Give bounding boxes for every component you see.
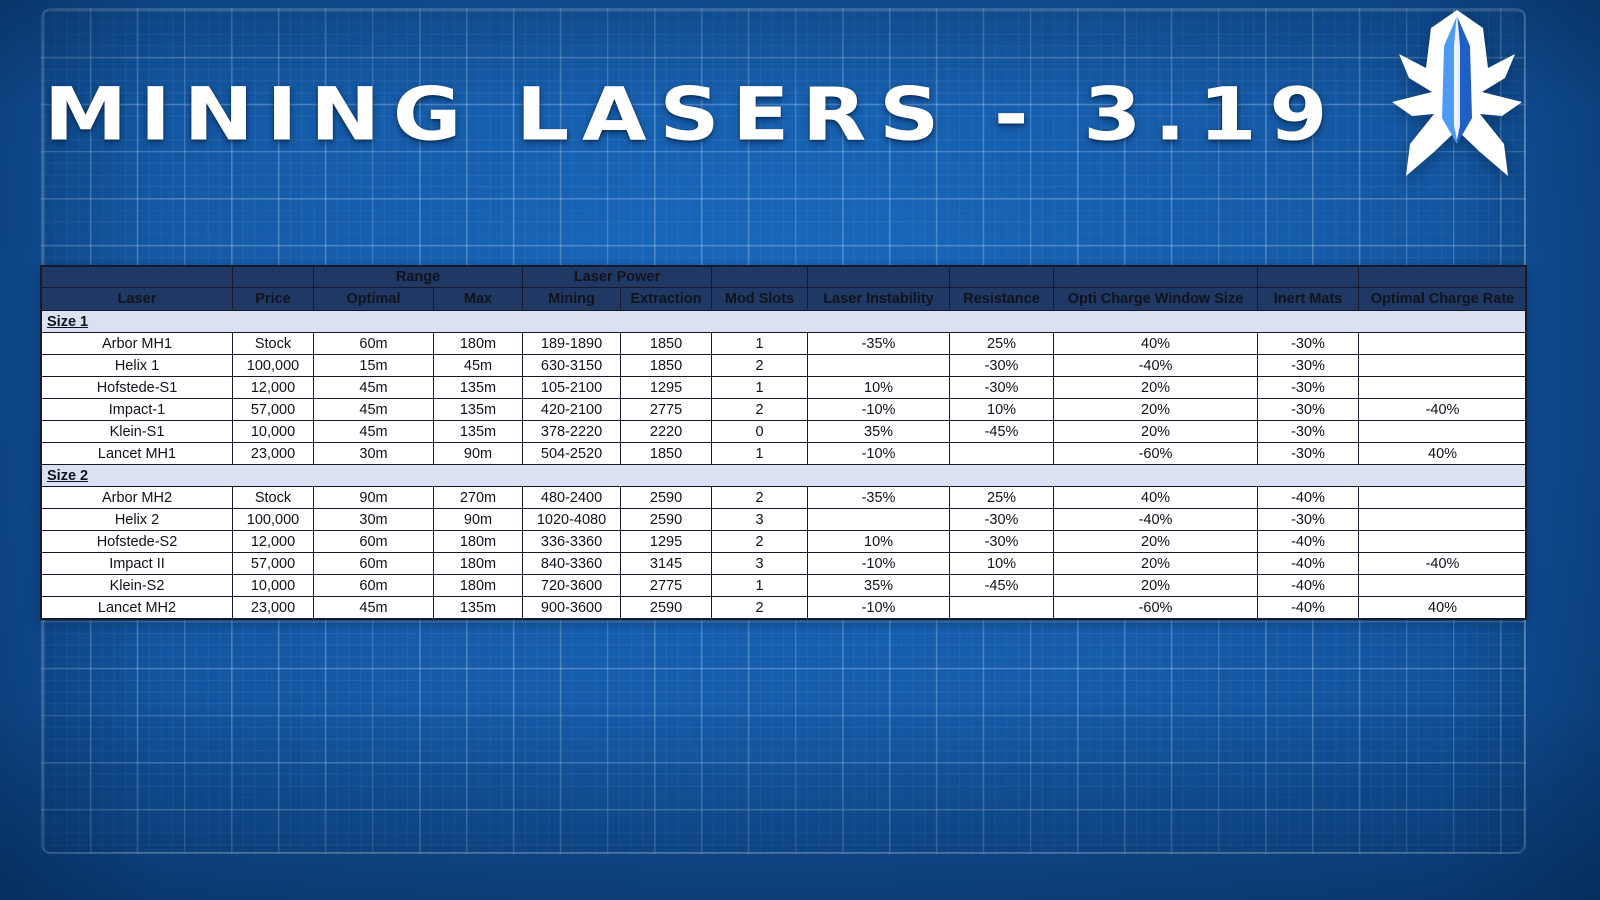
- table-cell: 20%: [1054, 399, 1258, 421]
- table-cell: 45m: [314, 421, 434, 443]
- table-cell: 2775: [621, 575, 712, 597]
- table-column-header-optimal: Optimal: [314, 288, 434, 311]
- table-cell: 180m: [434, 575, 523, 597]
- table-cell: -40%: [1359, 553, 1527, 575]
- table-cell: -30%: [950, 377, 1054, 399]
- table-cell: 60m: [314, 531, 434, 553]
- table-cell: 1295: [621, 531, 712, 553]
- table-cell: 90m: [434, 443, 523, 465]
- table-cell: 0: [712, 421, 808, 443]
- table-section-band: Size 1: [42, 311, 1527, 333]
- table-cell: 270m: [434, 487, 523, 509]
- table-section-label: Size 2: [47, 468, 88, 484]
- table-group-header-row: RangeLaser Power: [42, 267, 1527, 288]
- table-cell: -30%: [1258, 355, 1359, 377]
- table-cell: 20%: [1054, 421, 1258, 443]
- table-cell: 1: [712, 377, 808, 399]
- table-row: Hofstede-S212,00060m180m336-33601295210%…: [42, 531, 1527, 553]
- mining-lasers-table-container: RangeLaser Power LaserPriceOptimalMaxMin…: [41, 266, 1526, 619]
- table-cell: 135m: [434, 597, 523, 619]
- table-header: RangeLaser Power LaserPriceOptimalMaxMin…: [42, 267, 1527, 311]
- table-cell: -30%: [1258, 399, 1359, 421]
- table-cell: 90m: [434, 509, 523, 531]
- table-cell: 2590: [621, 597, 712, 619]
- table-cell: 420-2100: [523, 399, 621, 421]
- table-cell: 20%: [1054, 531, 1258, 553]
- table-cell: 25%: [950, 333, 1054, 355]
- table-cell: 10,000: [233, 575, 314, 597]
- table-column-header-mod-slots: Mod Slots: [712, 288, 808, 311]
- table-cell: -30%: [1258, 377, 1359, 399]
- table-cell: 1295: [621, 377, 712, 399]
- table-cell-laser-name: Klein-S2: [42, 575, 233, 597]
- table-cell: 23,000: [233, 443, 314, 465]
- table-cell: 840-3360: [523, 553, 621, 575]
- table-column-header-mining: Mining: [523, 288, 621, 311]
- table-group-header-blank-4: [712, 267, 808, 288]
- table-cell: -40%: [1258, 553, 1359, 575]
- table-cell-laser-name: Hofstede-S1: [42, 377, 233, 399]
- table-cell: -30%: [950, 509, 1054, 531]
- table-section-band-cell: Size 2: [42, 465, 1527, 487]
- table-cell: -35%: [808, 333, 950, 355]
- table-cell: [808, 355, 950, 377]
- table-cell: 40%: [1359, 443, 1527, 465]
- table-section-band: Size 2: [42, 465, 1527, 487]
- table-row: Helix 2100,00030m90m1020-408025903-30%-4…: [42, 509, 1527, 531]
- table-cell: -30%: [950, 355, 1054, 377]
- table-cell: Stock: [233, 487, 314, 509]
- mining-lasers-table: RangeLaser Power LaserPriceOptimalMaxMin…: [41, 266, 1527, 619]
- table-cell: -10%: [808, 597, 950, 619]
- table-cell: 12,000: [233, 377, 314, 399]
- table-cell: 336-3360: [523, 531, 621, 553]
- table-section-label: Size 1: [47, 314, 88, 330]
- table-cell: 40%: [1359, 597, 1527, 619]
- table-cell: [1359, 355, 1527, 377]
- table-cell: [1359, 509, 1527, 531]
- table-cell: [1359, 531, 1527, 553]
- table-group-header-blank-7: [1054, 267, 1258, 288]
- table-cell: 1850: [621, 355, 712, 377]
- table-cell: -10%: [808, 553, 950, 575]
- table-cell: -30%: [1258, 333, 1359, 355]
- table-cell-laser-name: Arbor MH2: [42, 487, 233, 509]
- table-cell: 57,000: [233, 399, 314, 421]
- table-cell: 10,000: [233, 421, 314, 443]
- table-cell: 2590: [621, 487, 712, 509]
- table-cell: -40%: [1258, 575, 1359, 597]
- table-cell: -45%: [950, 421, 1054, 443]
- table-cell: 105-2100: [523, 377, 621, 399]
- table-cell: 60m: [314, 553, 434, 575]
- table-cell: -30%: [1258, 443, 1359, 465]
- table-cell: [1359, 421, 1527, 443]
- table-cell: -40%: [1359, 399, 1527, 421]
- table-cell: 480-2400: [523, 487, 621, 509]
- table-column-header-opti-charge-window-size: Opti Charge Window Size: [1054, 288, 1258, 311]
- table-cell: 135m: [434, 377, 523, 399]
- table-cell: 180m: [434, 333, 523, 355]
- table-cell: 2775: [621, 399, 712, 421]
- table-cell: -30%: [1258, 421, 1359, 443]
- table-cell: 135m: [434, 421, 523, 443]
- table-cell: -60%: [1054, 443, 1258, 465]
- table-row: Impact-157,00045m135m420-210027752-10%10…: [42, 399, 1527, 421]
- table-cell: 2: [712, 399, 808, 421]
- table-cell: 3: [712, 553, 808, 575]
- table-cell: 1850: [621, 333, 712, 355]
- table-row: Lancet MH223,00045m135m900-360025902-10%…: [42, 597, 1527, 619]
- table-cell: 1: [712, 575, 808, 597]
- table-cell: 40%: [1054, 333, 1258, 355]
- table-column-header-inert-mats: Inert Mats: [1258, 288, 1359, 311]
- table-cell-laser-name: Lancet MH1: [42, 443, 233, 465]
- table-cell: 60m: [314, 333, 434, 355]
- table-row: Hofstede-S112,00045m135m105-21001295110%…: [42, 377, 1527, 399]
- table-cell: -30%: [950, 531, 1054, 553]
- table-cell: -40%: [1054, 355, 1258, 377]
- table-column-header-optimal-charge-rate: Optimal Charge Rate: [1359, 288, 1527, 311]
- table-cell: 630-3150: [523, 355, 621, 377]
- table-cell-laser-name: Klein-S1: [42, 421, 233, 443]
- table-row: Helix 1100,00015m45m630-315018502-30%-40…: [42, 355, 1527, 377]
- table-cell: 45m: [434, 355, 523, 377]
- table-cell: 30m: [314, 443, 434, 465]
- table-cell: 20%: [1054, 553, 1258, 575]
- table-row: Klein-S210,00060m180m720-36002775135%-45…: [42, 575, 1527, 597]
- table-cell: 15m: [314, 355, 434, 377]
- table-cell: -10%: [808, 399, 950, 421]
- table-row: Arbor MH1Stock60m180m189-189018501-35%25…: [42, 333, 1527, 355]
- table-cell: 35%: [808, 575, 950, 597]
- table-cell: -35%: [808, 487, 950, 509]
- table-cell: -60%: [1054, 597, 1258, 619]
- table-cell-laser-name: Hofstede-S2: [42, 531, 233, 553]
- table-cell: 45m: [314, 597, 434, 619]
- table-cell: 10%: [950, 553, 1054, 575]
- table-cell: 180m: [434, 553, 523, 575]
- table-cell: [950, 597, 1054, 619]
- table-cell: -40%: [1054, 509, 1258, 531]
- table-cell: 1850: [621, 443, 712, 465]
- table-cell: 135m: [434, 399, 523, 421]
- table-group-header-blank-9: [1359, 267, 1527, 288]
- table-group-header-blank-8: [1258, 267, 1359, 288]
- table-cell: [1359, 487, 1527, 509]
- table-cell: 2: [712, 597, 808, 619]
- table-column-header-laser-instability: Laser Instability: [808, 288, 950, 311]
- table-cell: -45%: [950, 575, 1054, 597]
- table-cell: Stock: [233, 333, 314, 355]
- table-row: Lancet MH123,00030m90m504-252018501-10%-…: [42, 443, 1527, 465]
- table-cell: 1020-4080: [523, 509, 621, 531]
- table-cell: 100,000: [233, 355, 314, 377]
- table-cell: 900-3600: [523, 597, 621, 619]
- table-cell: -30%: [1258, 509, 1359, 531]
- table-cell: 2: [712, 355, 808, 377]
- table-cell: 20%: [1054, 377, 1258, 399]
- table-cell: 3145: [621, 553, 712, 575]
- table-cell-laser-name: Lancet MH2: [42, 597, 233, 619]
- table-group-header-range: Range: [314, 267, 523, 288]
- table-cell: 180m: [434, 531, 523, 553]
- table-group-header-blank-5: [808, 267, 950, 288]
- table-cell: 2220: [621, 421, 712, 443]
- table-cell: 1: [712, 443, 808, 465]
- table-cell: 2590: [621, 509, 712, 531]
- table-cell: [1359, 333, 1527, 355]
- table-cell: [1359, 377, 1527, 399]
- table-cell: 189-1890: [523, 333, 621, 355]
- table-cell: 20%: [1054, 575, 1258, 597]
- table-section-band-cell: Size 1: [42, 311, 1527, 333]
- table-cell: 2: [712, 487, 808, 509]
- table-group-header-blank-6: [950, 267, 1054, 288]
- table-column-header-extraction: Extraction: [621, 288, 712, 311]
- table-cell: -40%: [1258, 487, 1359, 509]
- table-cell: 10%: [808, 377, 950, 399]
- table-cell: [808, 509, 950, 531]
- table-cell: 57,000: [233, 553, 314, 575]
- mining-crest-logo: [1374, 6, 1540, 182]
- table-group-header-blank-0: [42, 267, 233, 288]
- table-group-header-laser-power: Laser Power: [523, 267, 712, 288]
- table-cell: 90m: [314, 487, 434, 509]
- table-cell: 1: [712, 333, 808, 355]
- table-cell: 12,000: [233, 531, 314, 553]
- table-cell: 378-2220: [523, 421, 621, 443]
- page-title: MINING LASERS - 3.19: [44, 77, 1340, 150]
- table-column-header-resistance: Resistance: [950, 288, 1054, 311]
- table-cell: [1359, 575, 1527, 597]
- table-cell-laser-name: Impact-1: [42, 399, 233, 421]
- table-column-header-laser: Laser: [42, 288, 233, 311]
- table-cell: 504-2520: [523, 443, 621, 465]
- table-group-header-blank-1: [233, 267, 314, 288]
- table-cell: 25%: [950, 487, 1054, 509]
- table-cell: 35%: [808, 421, 950, 443]
- table-body: Size 1Arbor MH1Stock60m180m189-189018501…: [42, 311, 1527, 619]
- table-cell-laser-name: Helix 1: [42, 355, 233, 377]
- table-cell-laser-name: Impact II: [42, 553, 233, 575]
- table-row: Impact II57,00060m180m840-336031453-10%1…: [42, 553, 1527, 575]
- table-cell: 100,000: [233, 509, 314, 531]
- table-cell-laser-name: Helix 2: [42, 509, 233, 531]
- table-cell: 2: [712, 531, 808, 553]
- table-column-header-row: LaserPriceOptimalMaxMiningExtractionMod …: [42, 288, 1527, 311]
- table-cell: 720-3600: [523, 575, 621, 597]
- table-cell: 45m: [314, 377, 434, 399]
- table-cell: -40%: [1258, 531, 1359, 553]
- table-column-header-max: Max: [434, 288, 523, 311]
- table-cell: 45m: [314, 399, 434, 421]
- table-cell: 60m: [314, 575, 434, 597]
- table-cell-laser-name: Arbor MH1: [42, 333, 233, 355]
- table-cell: 30m: [314, 509, 434, 531]
- table-cell: -40%: [1258, 597, 1359, 619]
- table-row: Arbor MH2Stock90m270m480-240025902-35%25…: [42, 487, 1527, 509]
- table-cell: 40%: [1054, 487, 1258, 509]
- table-cell: [950, 443, 1054, 465]
- table-cell: 23,000: [233, 597, 314, 619]
- table-row: Klein-S110,00045m135m378-22202220035%-45…: [42, 421, 1527, 443]
- table-cell: -10%: [808, 443, 950, 465]
- table-cell: 10%: [950, 399, 1054, 421]
- table-column-header-price: Price: [233, 288, 314, 311]
- table-cell: 10%: [808, 531, 950, 553]
- table-cell: 3: [712, 509, 808, 531]
